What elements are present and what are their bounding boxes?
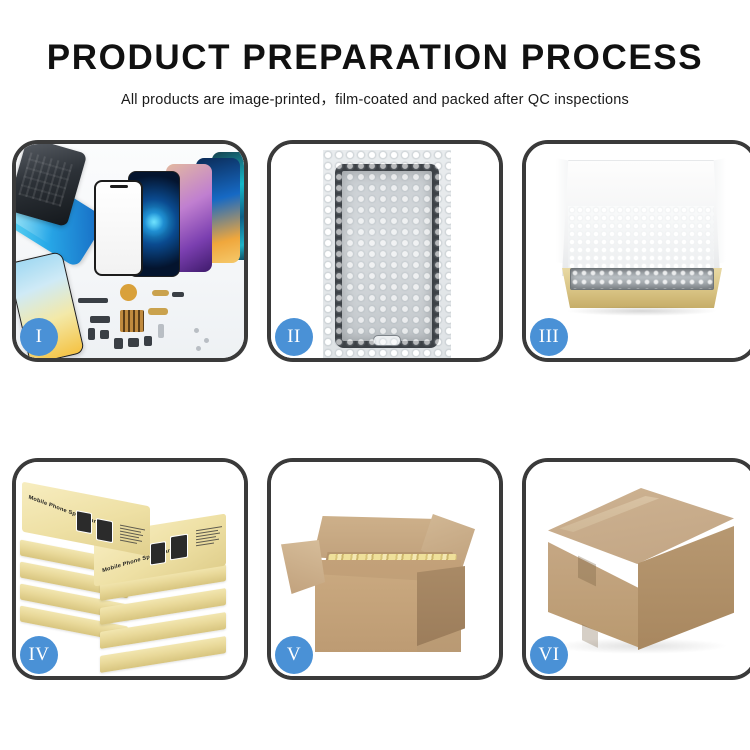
foam-padding	[568, 206, 714, 270]
wrapped-screen-in-box	[570, 268, 714, 290]
product-preparation-infographic: PRODUCT PREPARATION PROCESS All products…	[0, 0, 750, 750]
step-number-badge-5: V	[275, 636, 313, 674]
page-title: PRODUCT PREPARATION PROCESS	[0, 0, 750, 75]
bubble-wrap-sheet	[323, 150, 451, 358]
page-subtitle: All products are image-printed，film-coat…	[0, 75, 750, 109]
process-step-card-4: Mobile Phone Spare Parts Mobile Phone Sp…	[12, 458, 248, 680]
step-number-badge-3: III	[530, 318, 568, 356]
phone-white-front-glass	[94, 180, 143, 276]
spare-parts-cluster	[76, 282, 216, 358]
carton-front-face	[315, 574, 417, 652]
step-number-badge-2: II	[275, 318, 313, 356]
process-step-card-1: I	[12, 140, 248, 362]
process-step-card-3: III	[522, 140, 750, 362]
step-number-badge-6: VI	[530, 636, 568, 674]
header: PRODUCT PREPARATION PROCESS All products…	[0, 0, 750, 109]
step-number-badge-4: IV	[20, 636, 58, 674]
process-step-card-2: II	[267, 140, 503, 362]
step-number-badge-1: I	[20, 318, 58, 356]
process-step-card-6: VI	[522, 458, 750, 680]
process-step-card-5: V	[267, 458, 503, 680]
wrapped-phone-screen	[335, 164, 439, 348]
process-steps-grid: I II	[12, 140, 740, 685]
